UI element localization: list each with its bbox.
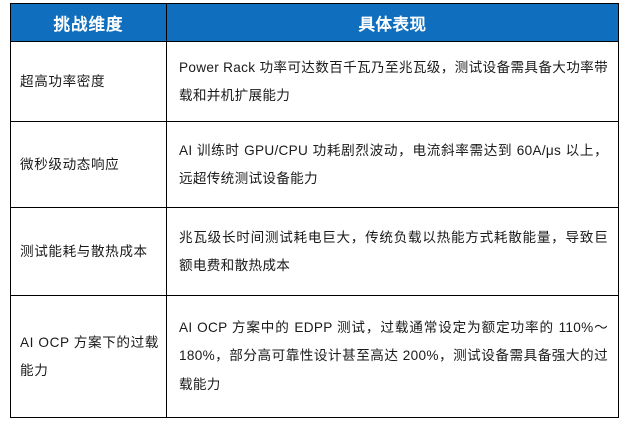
table-row: 测试能耗与散热成本 兆瓦级长时间测试耗电巨大，传统负载以热能方式耗散能量，导致巨… bbox=[11, 208, 619, 296]
column-header-dimension: 挑战维度 bbox=[11, 4, 167, 42]
table-header: 挑战维度 具体表现 bbox=[11, 4, 619, 42]
cell-dimension: 超高功率密度 bbox=[11, 42, 167, 122]
table-header-row: 挑战维度 具体表现 bbox=[11, 4, 619, 42]
table-row: AI OCP 方案下的过载能力 AI OCP 方案中的 EDPP 测试，过载通常… bbox=[11, 296, 619, 418]
column-header-description: 具体表现 bbox=[167, 4, 619, 42]
cell-description: AI OCP 方案中的 EDPP 测试，过载通常设定为额定功率的 110%～18… bbox=[167, 296, 619, 418]
table-row: 微秒级动态响应 AI 训练时 GPU/CPU 功耗剧烈波动，电流斜率需达到 60… bbox=[11, 122, 619, 208]
table-row: 超高功率密度 Power Rack 功率可达数百千瓦乃至兆瓦级，测试设备需具备大… bbox=[11, 42, 619, 122]
cell-description: Power Rack 功率可达数百千瓦乃至兆瓦级，测试设备需具备大功率带载和并机… bbox=[167, 42, 619, 122]
page-root: 挑战维度 具体表现 超高功率密度 Power Rack 功率可达数百千瓦乃至兆瓦… bbox=[0, 0, 629, 426]
cell-dimension: AI OCP 方案下的过载能力 bbox=[11, 296, 167, 418]
challenge-dimensions-table: 挑战维度 具体表现 超高功率密度 Power Rack 功率可达数百千瓦乃至兆瓦… bbox=[10, 3, 619, 418]
cell-dimension: 测试能耗与散热成本 bbox=[11, 208, 167, 296]
table-body: 超高功率密度 Power Rack 功率可达数百千瓦乃至兆瓦级，测试设备需具备大… bbox=[11, 42, 619, 418]
cell-description: AI 训练时 GPU/CPU 功耗剧烈波动，电流斜率需达到 60A/μs 以上，… bbox=[167, 122, 619, 208]
cell-dimension: 微秒级动态响应 bbox=[11, 122, 167, 208]
cell-description: 兆瓦级长时间测试耗电巨大，传统负载以热能方式耗散能量，导致巨额电费和散热成本 bbox=[167, 208, 619, 296]
